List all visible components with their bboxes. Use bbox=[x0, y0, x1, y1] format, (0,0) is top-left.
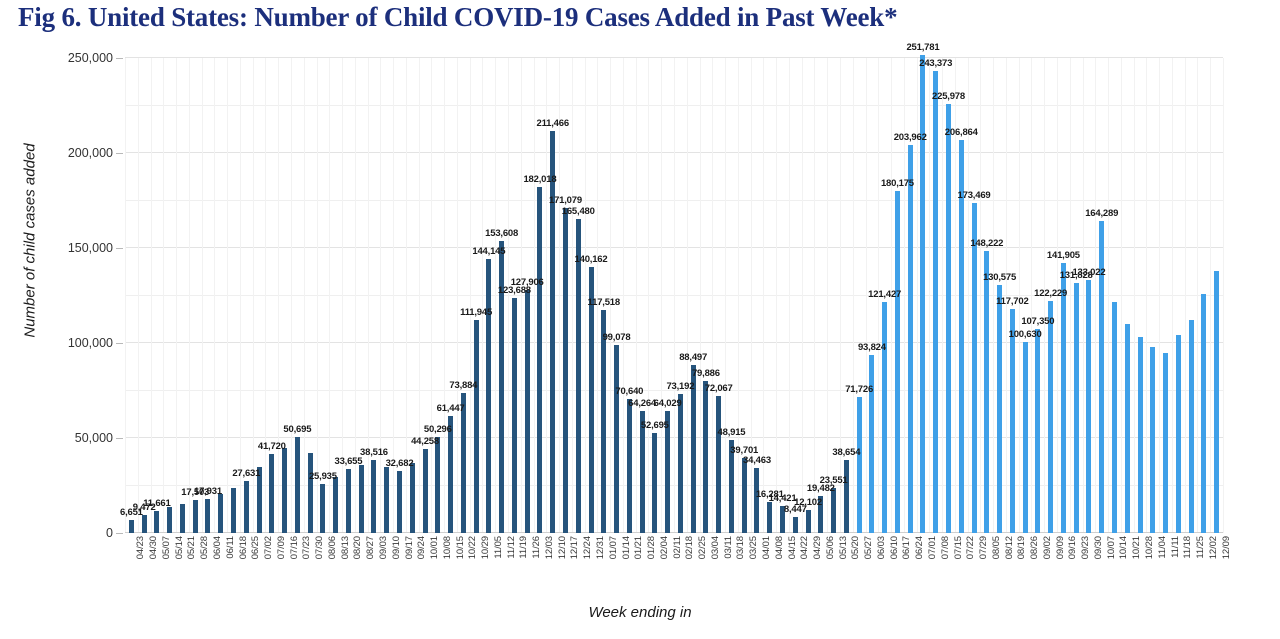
bar[interactable] bbox=[920, 55, 925, 533]
x-axis-tick-label: 06/04 bbox=[212, 536, 223, 559]
bar[interactable] bbox=[869, 355, 874, 533]
bar[interactable] bbox=[895, 191, 900, 533]
bar[interactable] bbox=[180, 504, 185, 533]
bar[interactable] bbox=[742, 458, 747, 533]
page-title: Fig 6. United States: Number of Child CO… bbox=[18, 2, 897, 33]
y-axis-tick-label: 200,000 bbox=[68, 146, 113, 160]
bar-value-label: 73,884 bbox=[449, 380, 477, 391]
bar-value-label: 71,726 bbox=[845, 384, 873, 395]
x-axis-tick-label: 08/05 bbox=[991, 536, 1002, 559]
bar[interactable] bbox=[1112, 302, 1117, 533]
x-axis-tick-label: 07/16 bbox=[289, 536, 300, 559]
bar[interactable] bbox=[474, 320, 479, 533]
bar-value-label: 72,067 bbox=[705, 383, 733, 394]
bar-value-label: 93,824 bbox=[858, 342, 886, 353]
bar-value-label: 38,654 bbox=[832, 447, 860, 458]
x-axis-tick-label: 04/08 bbox=[774, 536, 785, 559]
bar[interactable] bbox=[129, 520, 134, 533]
x-axis-tick-label: 08/12 bbox=[1004, 536, 1015, 559]
x-axis-tick-label: 09/23 bbox=[1080, 536, 1091, 559]
x-axis-tick-label: 12/17 bbox=[569, 536, 580, 559]
bar[interactable] bbox=[882, 302, 887, 533]
bar[interactable] bbox=[295, 437, 300, 533]
x-axis-tick-label: 09/16 bbox=[1067, 536, 1078, 559]
y-axis-tick-label: 100,000 bbox=[68, 336, 113, 350]
x-axis-tick-label: 09/24 bbox=[416, 536, 427, 559]
y-axis-tick-mark bbox=[116, 343, 123, 344]
x-axis-tick-label: 08/26 bbox=[1029, 536, 1040, 559]
bar[interactable] bbox=[1125, 324, 1130, 533]
bar-value-label: 165,480 bbox=[562, 206, 595, 217]
x-axis-tick-label: 10/15 bbox=[455, 536, 466, 559]
x-axis-tick-label: 09/09 bbox=[1055, 536, 1066, 559]
x-axis-tick-label: 06/24 bbox=[914, 536, 925, 559]
bar[interactable] bbox=[550, 131, 555, 533]
bar[interactable] bbox=[435, 437, 440, 533]
bar-value-label: 64,264 bbox=[628, 398, 656, 409]
x-axis-tick-label: 11/05 bbox=[493, 536, 504, 559]
y-axis-title: Number of child cases added bbox=[22, 51, 39, 431]
x-axis-tick-label: 05/28 bbox=[199, 536, 210, 559]
x-axis-tick-label: 05/06 bbox=[825, 536, 836, 559]
x-axis-tick-label: 11/25 bbox=[1195, 536, 1206, 559]
bar-value-label: 251,781 bbox=[906, 42, 939, 53]
bar[interactable] bbox=[359, 465, 364, 533]
bar-value-label: 11,661 bbox=[143, 498, 170, 509]
bar[interactable] bbox=[767, 502, 772, 533]
bar[interactable] bbox=[1163, 353, 1168, 534]
y-axis: 050,000100,000150,000200,000250,000 bbox=[0, 58, 125, 533]
bar[interactable] bbox=[537, 187, 542, 533]
x-axis-tick-label: 09/17 bbox=[404, 536, 415, 559]
bar[interactable] bbox=[397, 471, 402, 533]
x-axis-tick-label: 01/14 bbox=[621, 536, 632, 559]
x-axis-tick-label: 02/25 bbox=[697, 536, 708, 559]
y-axis-tick-mark bbox=[116, 153, 123, 154]
x-axis-tick-label: 10/22 bbox=[467, 536, 478, 559]
x-axis-tick-label: 04/23 bbox=[135, 536, 146, 559]
bar-value-label: 127,906 bbox=[511, 277, 544, 288]
y-axis-tick-mark bbox=[116, 58, 123, 59]
bar[interactable] bbox=[269, 454, 274, 533]
bar-value-label: 206,864 bbox=[945, 127, 978, 138]
x-axis-tick-label: 08/20 bbox=[352, 536, 363, 559]
y-axis-tick-mark bbox=[116, 438, 123, 439]
x-axis-tick-label: 08/06 bbox=[327, 536, 338, 559]
x-axis-tick-label: 11/11 bbox=[1170, 536, 1181, 558]
bar-value-label: 140,162 bbox=[575, 254, 608, 265]
bar[interactable] bbox=[984, 251, 989, 533]
x-axis-tick-label: 12/10 bbox=[557, 536, 568, 559]
bar-value-label: 203,962 bbox=[894, 132, 927, 143]
bar-value-label: 148,222 bbox=[970, 238, 1003, 249]
bar[interactable] bbox=[1086, 280, 1091, 533]
x-axis: 04/2304/3005/0705/1405/2105/2806/0406/11… bbox=[125, 536, 1223, 598]
y-axis-tick-mark bbox=[116, 533, 123, 534]
bar[interactable] bbox=[703, 381, 708, 533]
bar-value-label: 111,945 bbox=[460, 307, 492, 318]
x-axis-tick-label: 12/02 bbox=[1208, 536, 1219, 559]
x-axis-tick-label: 11/26 bbox=[531, 536, 542, 559]
bar[interactable] bbox=[410, 463, 415, 533]
x-axis-tick-label: 05/07 bbox=[161, 536, 172, 559]
x-axis-tick-label: 10/01 bbox=[429, 536, 440, 559]
x-axis-tick-label: 03/04 bbox=[710, 536, 721, 559]
bar[interactable] bbox=[678, 394, 683, 533]
bar[interactable] bbox=[1150, 347, 1155, 533]
bar-value-label: 88,497 bbox=[679, 352, 707, 363]
bar[interactable] bbox=[997, 285, 1002, 533]
x-axis-tick-label: 06/17 bbox=[901, 536, 912, 559]
bar[interactable] bbox=[193, 500, 198, 533]
x-axis-tick-label: 09/10 bbox=[391, 536, 402, 559]
bar[interactable] bbox=[576, 219, 581, 533]
bar-value-label: 225,978 bbox=[932, 91, 965, 102]
bar-value-label: 23,551 bbox=[820, 475, 848, 486]
bar-value-label: 34,463 bbox=[743, 455, 771, 466]
bar-value-label: 243,373 bbox=[919, 58, 952, 69]
x-axis-tick-label: 06/25 bbox=[250, 536, 261, 559]
bar-value-label: 153,608 bbox=[485, 228, 518, 239]
x-axis-tick-label: 10/07 bbox=[1106, 536, 1117, 559]
bar[interactable] bbox=[205, 499, 210, 533]
x-axis-tick-label: 07/23 bbox=[301, 536, 312, 559]
x-axis-tick-label: 07/22 bbox=[965, 536, 976, 559]
bar-value-label: 73,192 bbox=[666, 381, 694, 392]
bar-value-label: 141,905 bbox=[1047, 250, 1080, 261]
x-axis-tick-label: 06/18 bbox=[238, 536, 249, 559]
bar[interactable] bbox=[716, 396, 721, 533]
x-axis-tick-label: 05/14 bbox=[174, 536, 185, 559]
bar-value-label: 211,466 bbox=[536, 118, 568, 129]
x-axis-tick-label: 07/01 bbox=[927, 536, 938, 559]
bar-value-label: 41,720 bbox=[258, 441, 286, 452]
x-axis-tick-label: 04/15 bbox=[787, 536, 798, 559]
plot-area: 6,6519,47211,66117,50317,93127,63141,720… bbox=[125, 58, 1223, 533]
x-axis-tick-label: 05/13 bbox=[838, 536, 849, 559]
x-axis-tick-label: 05/21 bbox=[186, 536, 197, 559]
y-axis-tick-label: 50,000 bbox=[75, 431, 113, 445]
bar[interactable] bbox=[908, 145, 913, 533]
x-axis-tick-label: 09/30 bbox=[1093, 536, 1104, 559]
bar-value-label: 61,447 bbox=[437, 403, 465, 414]
x-axis-tick-label: 11/19 bbox=[518, 536, 529, 559]
x-axis-tick-label: 07/29 bbox=[978, 536, 989, 559]
bar[interactable] bbox=[1023, 342, 1028, 533]
bar[interactable] bbox=[218, 494, 223, 533]
bar-value-label: 122,229 bbox=[1034, 288, 1067, 299]
bar[interactable] bbox=[793, 517, 798, 533]
y-axis-tick-label: 0 bbox=[106, 526, 113, 540]
bar[interactable] bbox=[972, 203, 977, 533]
x-axis-tick-label: 12/09 bbox=[1221, 536, 1232, 559]
x-axis-tick-label: 03/11 bbox=[723, 536, 734, 559]
bar-value-label: 133,022 bbox=[1072, 267, 1105, 278]
bar[interactable] bbox=[231, 488, 236, 533]
bar-value-label: 50,695 bbox=[283, 424, 311, 435]
bar-value-label: 14,421 bbox=[769, 493, 797, 504]
x-axis-tick-label: 04/30 bbox=[148, 536, 159, 559]
bar[interactable] bbox=[320, 484, 325, 533]
bar-value-label: 17,931 bbox=[194, 486, 222, 497]
bar[interactable] bbox=[346, 469, 351, 533]
bar[interactable] bbox=[384, 467, 389, 533]
x-axis-tick-label: 04/01 bbox=[761, 536, 772, 559]
bar[interactable] bbox=[1176, 335, 1181, 533]
x-axis-tick-label: 01/28 bbox=[646, 536, 657, 559]
bar-value-label: 130,575 bbox=[983, 272, 1016, 283]
bar[interactable] bbox=[1074, 283, 1079, 533]
x-axis-tick-label: 05/27 bbox=[863, 536, 874, 559]
bar[interactable] bbox=[333, 477, 338, 533]
x-axis-tick-label: 10/29 bbox=[480, 536, 491, 559]
bar[interactable] bbox=[754, 468, 759, 533]
bar-value-label: 173,469 bbox=[958, 190, 991, 201]
x-axis-tick-label: 01/07 bbox=[608, 536, 619, 559]
bar-value-label: 117,702 bbox=[996, 296, 1028, 307]
bar-value-label: 164,289 bbox=[1085, 208, 1118, 219]
bar-value-label: 48,915 bbox=[718, 427, 746, 438]
bar-value-label: 64,029 bbox=[654, 398, 682, 409]
bar-value-label: 171,079 bbox=[549, 195, 582, 206]
bar[interactable] bbox=[1061, 263, 1066, 533]
bar-value-label: 180,175 bbox=[881, 178, 914, 189]
bar[interactable] bbox=[525, 290, 530, 533]
bar[interactable] bbox=[844, 460, 849, 533]
x-axis-tick-label: 04/29 bbox=[812, 536, 823, 559]
x-axis-tick-label: 03/18 bbox=[735, 536, 746, 559]
x-axis-tick-label: 12/24 bbox=[582, 536, 593, 559]
x-axis-tick-label: 07/30 bbox=[314, 536, 325, 559]
x-axis-tick-label: 11/04 bbox=[1157, 536, 1168, 559]
bar[interactable] bbox=[857, 397, 862, 533]
bar[interactable] bbox=[627, 399, 632, 533]
x-axis-tick-label: 11/12 bbox=[506, 536, 517, 559]
bar[interactable] bbox=[1048, 301, 1053, 533]
bar[interactable] bbox=[423, 449, 428, 533]
bar[interactable] bbox=[486, 259, 491, 533]
bar-value-label: 52,695 bbox=[641, 420, 669, 431]
bar-value-label: 70,640 bbox=[615, 386, 643, 397]
bar-value-label: 44,258 bbox=[411, 436, 439, 447]
bar-value-label: 38,516 bbox=[360, 447, 388, 458]
x-axis-tick-label: 06/11 bbox=[225, 536, 236, 559]
x-axis-tick-label: 02/04 bbox=[659, 536, 670, 559]
bar-value-label: 25,935 bbox=[309, 471, 337, 482]
bar-value-label: 79,886 bbox=[692, 368, 720, 379]
bar[interactable] bbox=[282, 448, 287, 533]
x-axis-tick-label: 05/20 bbox=[850, 536, 861, 559]
x-axis-tick-label: 07/02 bbox=[263, 536, 274, 559]
bar[interactable] bbox=[933, 71, 938, 533]
y-axis-tick-label: 250,000 bbox=[68, 51, 113, 65]
bar[interactable] bbox=[601, 310, 606, 533]
x-axis-tick-label: 07/09 bbox=[276, 536, 287, 559]
x-axis-tick-label: 03/25 bbox=[748, 536, 759, 559]
x-axis-tick-label: 01/21 bbox=[633, 536, 644, 559]
bar-value-label: 50,296 bbox=[424, 424, 452, 435]
bar[interactable] bbox=[652, 433, 657, 533]
bar[interactable] bbox=[167, 507, 172, 533]
bar[interactable] bbox=[1189, 320, 1194, 533]
x-axis-tick-label: 12/03 bbox=[544, 536, 555, 559]
x-axis-tick-label: 02/11 bbox=[672, 536, 683, 559]
x-axis-title: Week ending in bbox=[0, 604, 1280, 621]
bar-value-label: 182,018 bbox=[523, 174, 556, 185]
bar[interactable] bbox=[1201, 294, 1206, 533]
bar-value-label: 121,427 bbox=[868, 289, 901, 300]
x-axis-tick-label: 06/10 bbox=[889, 536, 900, 559]
x-axis-tick-label: 06/03 bbox=[876, 536, 887, 559]
x-axis-tick-label: 07/08 bbox=[940, 536, 951, 559]
bar-value-label: 33,655 bbox=[334, 456, 362, 467]
bar[interactable] bbox=[154, 511, 159, 533]
x-axis-tick-label: 10/08 bbox=[442, 536, 453, 559]
y-axis-tick-mark bbox=[116, 248, 123, 249]
gridline-vertical bbox=[1223, 58, 1224, 533]
bar-value-label: 27,631 bbox=[232, 468, 260, 479]
bar[interactable] bbox=[1138, 337, 1143, 533]
bar[interactable] bbox=[512, 298, 517, 533]
bar-value-label: 100,630 bbox=[1009, 329, 1042, 340]
x-axis-tick-label: 02/18 bbox=[684, 536, 695, 559]
bar[interactable] bbox=[1214, 271, 1219, 533]
x-axis-tick-label: 09/02 bbox=[1042, 536, 1053, 559]
x-axis-tick-label: 08/27 bbox=[365, 536, 376, 559]
bar-value-label: 32,682 bbox=[386, 458, 414, 469]
bar[interactable] bbox=[371, 460, 376, 533]
bar[interactable] bbox=[946, 104, 951, 533]
bar-value-label: 144,145 bbox=[472, 246, 505, 257]
bar[interactable] bbox=[1035, 329, 1040, 533]
x-axis-tick-label: 08/19 bbox=[1016, 536, 1027, 559]
x-axis-tick-label: 10/28 bbox=[1144, 536, 1155, 559]
y-axis-tick-label: 150,000 bbox=[68, 241, 113, 255]
bar-value-label: 117,518 bbox=[588, 297, 620, 308]
bar[interactable] bbox=[308, 453, 313, 533]
bar-value-label: 107,350 bbox=[1021, 316, 1054, 327]
x-axis-tick-label: 09/03 bbox=[378, 536, 389, 559]
x-axis-tick-label: 07/15 bbox=[953, 536, 964, 559]
bar[interactable] bbox=[1010, 309, 1015, 533]
x-axis-tick-label: 04/22 bbox=[799, 536, 810, 559]
x-axis-tick-label: 11/18 bbox=[1182, 536, 1193, 559]
x-axis-tick-label: 10/21 bbox=[1131, 536, 1142, 559]
bar[interactable] bbox=[614, 345, 619, 533]
bar-value-label: 99,078 bbox=[603, 332, 631, 343]
x-axis-tick-label: 12/31 bbox=[595, 536, 606, 559]
bar[interactable] bbox=[831, 488, 836, 533]
x-axis-tick-label: 10/14 bbox=[1118, 536, 1129, 559]
bar[interactable] bbox=[563, 208, 568, 533]
bar[interactable] bbox=[244, 481, 249, 533]
bar-value-label: 12,102 bbox=[794, 497, 822, 508]
x-axis-tick-label: 08/13 bbox=[340, 536, 351, 559]
